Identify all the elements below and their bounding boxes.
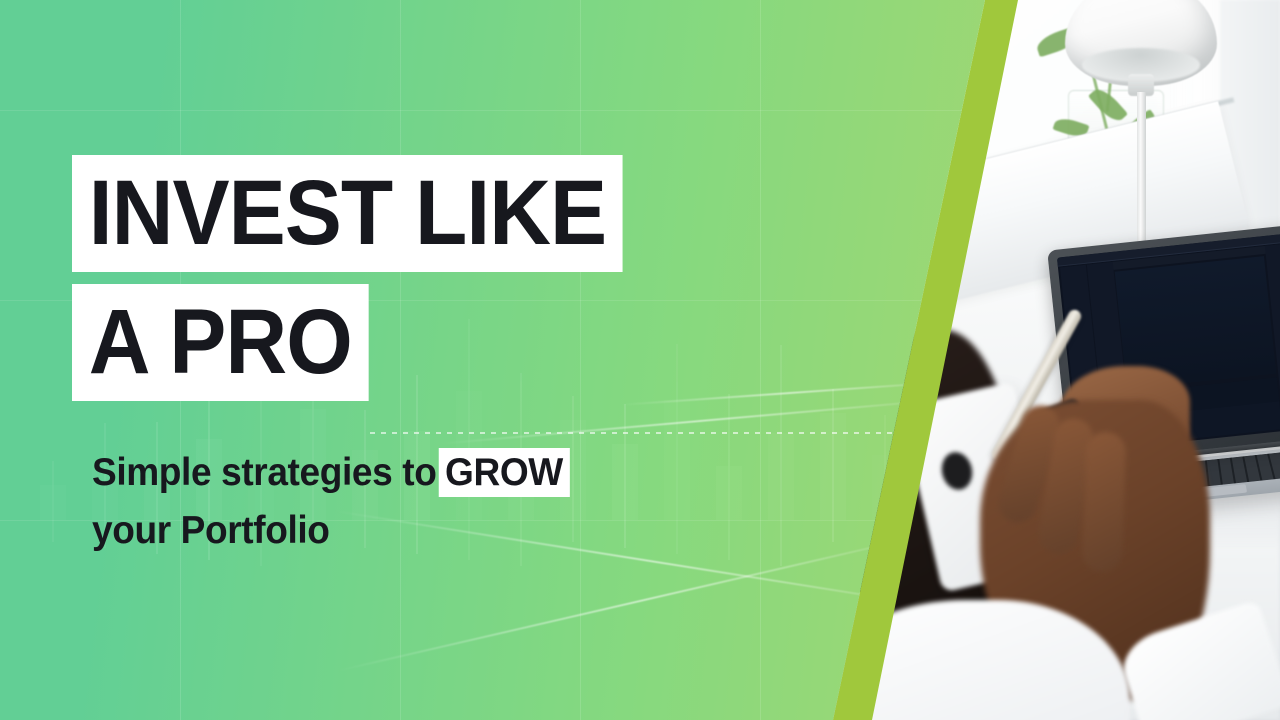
- candlestick-wick: [572, 396, 574, 542]
- candlestick: [612, 444, 638, 520]
- finger: [1082, 431, 1127, 572]
- headline: INVEST LIKE A PRO: [72, 155, 664, 401]
- candlestick-wick: [780, 345, 782, 566]
- candlestick: [716, 466, 742, 520]
- trend-line-secondary: [441, 397, 959, 444]
- headline-line-2: A PRO: [72, 284, 369, 401]
- candlestick: [40, 485, 66, 520]
- candlestick: [664, 400, 690, 520]
- candlestick: [820, 413, 846, 520]
- headline-line-1: INVEST LIKE: [72, 155, 623, 272]
- price-level-dotted-line: [370, 432, 930, 434]
- grid-line-vertical: [760, 0, 761, 720]
- subtitle-lead: Simple strategies to: [92, 451, 436, 494]
- subtitle: Simple strategies toGROW your Portfolio: [92, 444, 570, 560]
- candlestick: [768, 433, 794, 520]
- subtitle-highlight: GROW: [438, 448, 569, 497]
- candlestick-wick: [52, 461, 54, 542]
- invest-like-a-pro-banner: INVEST LIKE A PRO Simple strategies toGR…: [0, 0, 1280, 720]
- subtitle-line-2: your Portfolio: [92, 502, 570, 560]
- candlestick-wick: [676, 344, 678, 554]
- candlestick-wick: [832, 389, 834, 542]
